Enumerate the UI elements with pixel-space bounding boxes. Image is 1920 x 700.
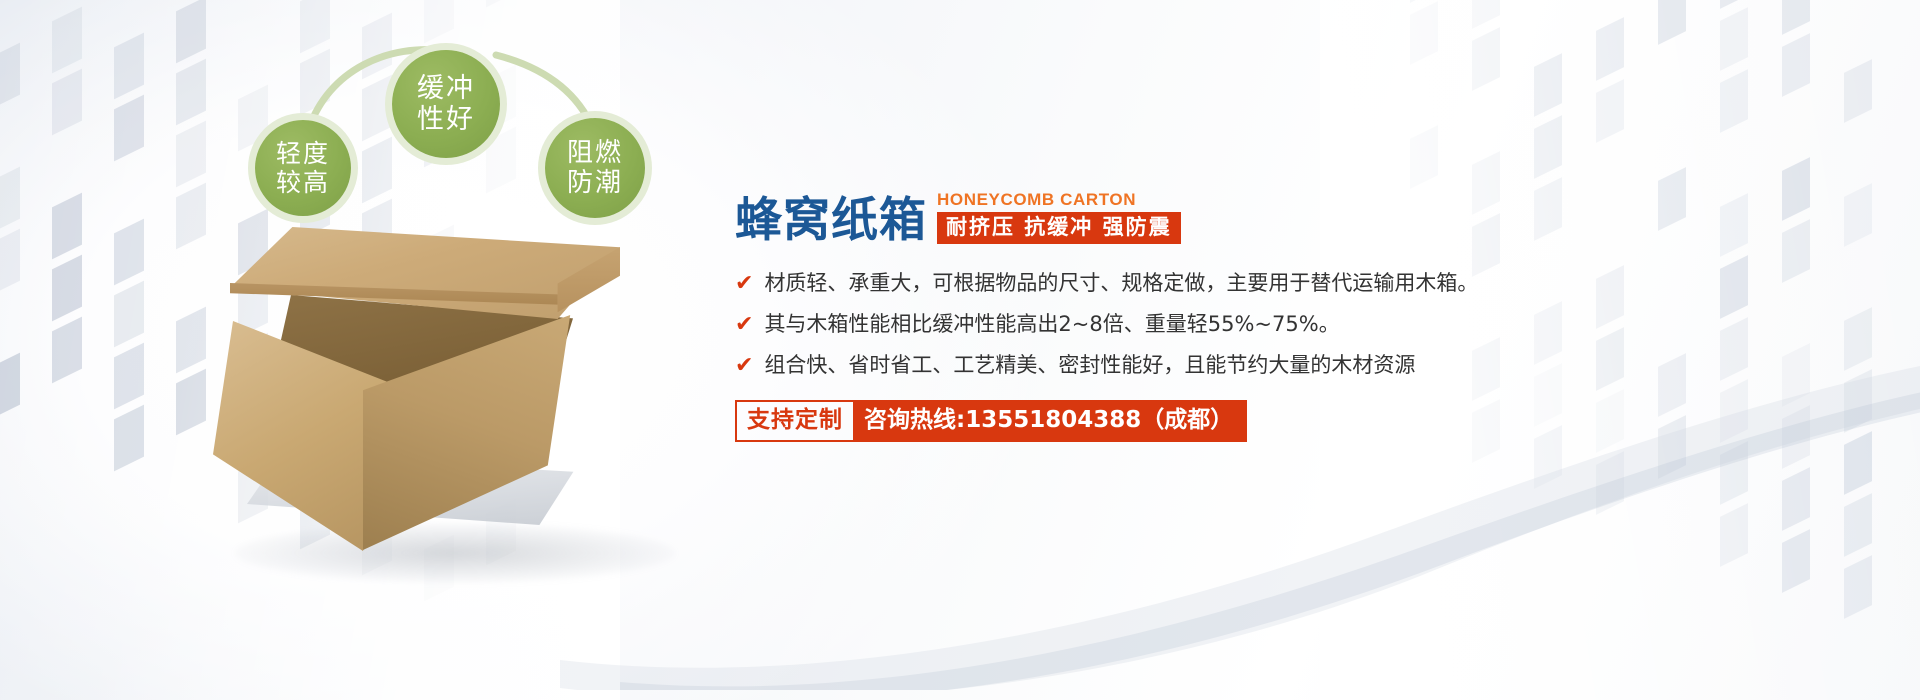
feature-line-1: 阻燃 — [567, 138, 623, 168]
bullet-text: 材质轻、承重大，可根据物品的尺寸、规格定做，主要用于替代运输用木箱。 — [764, 270, 1478, 296]
check-icon: ✔ — [735, 311, 753, 337]
feature-line-1: 缓冲 — [417, 73, 475, 104]
feature-line-1: 轻度 — [276, 139, 330, 168]
list-item: ✔ 材质轻、承重大，可根据物品的尺寸、规格定做，主要用于替代运输用木箱。 — [735, 270, 1855, 296]
headline-row: 蜂窝纸箱 HONEYCOMB CARTON 耐挤压 抗缓冲 强防震 — [735, 190, 1855, 246]
bullet-text: 组合快、省时省工、工艺精美、密封性能好，且能节约大量的木材资源 — [764, 352, 1415, 378]
list-item: ✔ 其与木箱性能相比缓冲性能高出2~8倍、重量轻55%~75%。 — [735, 311, 1855, 337]
contact-bar[interactable]: 支持定制 咨询热线:13551804388（成都） — [735, 400, 1247, 442]
tagline-badge: 耐挤压 抗缓冲 强防震 — [937, 212, 1181, 244]
headline-side: HONEYCOMB CARTON 耐挤压 抗缓冲 强防震 — [937, 190, 1181, 246]
check-icon: ✔ — [735, 270, 753, 296]
feature-line-2: 较高 — [276, 168, 330, 197]
feature-circle-flame-moisture: 阻燃 防潮 — [545, 118, 645, 218]
feature-circles: 轻度 较高 缓冲 性好 阻燃 防潮 — [255, 40, 685, 225]
feature-circle-light-weight: 轻度 较高 — [255, 120, 351, 216]
feature-line-2: 防潮 — [567, 168, 623, 198]
check-icon: ✔ — [735, 352, 753, 378]
carton-body — [213, 285, 643, 555]
product-image-honeycomb-carton — [195, 205, 715, 595]
copy-block: 蜂窝纸箱 HONEYCOMB CARTON 耐挤压 抗缓冲 强防震 ✔ 材质轻、… — [735, 190, 1855, 442]
page-title: 蜂窝纸箱 — [735, 196, 927, 246]
hotline-number[interactable]: 咨询热线:13551804388（成都） — [853, 402, 1245, 440]
list-item: ✔ 组合快、省时省工、工艺精美、密封性能好，且能节约大量的木材资源 — [735, 352, 1855, 378]
carton-lid — [230, 227, 620, 319]
feature-line-2: 性好 — [417, 104, 475, 135]
feature-bullet-list: ✔ 材质轻、承重大，可根据物品的尺寸、规格定做，主要用于替代运输用木箱。 ✔ 其… — [735, 270, 1855, 378]
custom-order-label: 支持定制 — [737, 402, 853, 440]
feature-circle-cushioning: 缓冲 性好 — [392, 50, 500, 158]
bullet-text: 其与木箱性能相比缓冲性能高出2~8倍、重量轻55%~75%。 — [764, 311, 1339, 337]
promo-banner: 轻度 较高 缓冲 性好 阻燃 防潮 蜂窝纸箱 H — [0, 0, 1920, 700]
subtitle-english: HONEYCOMB CARTON — [937, 190, 1181, 209]
